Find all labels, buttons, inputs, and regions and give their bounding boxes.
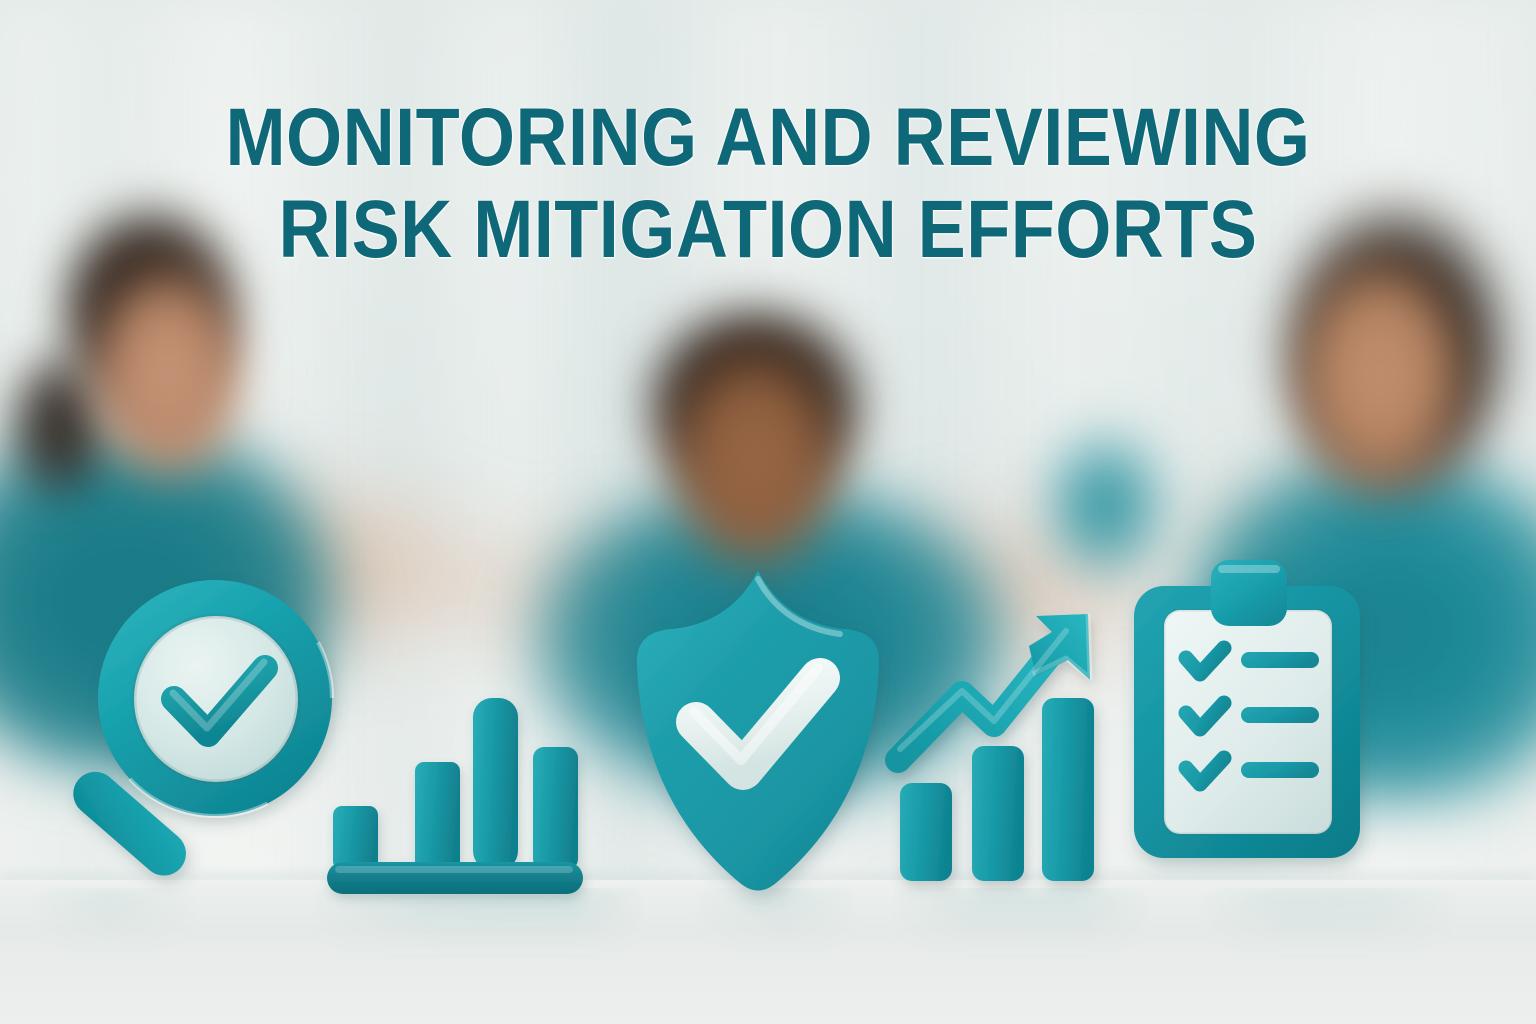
- bar-chart-icon: [325, 690, 605, 905]
- slide-canvas: MONITORING AND REVIEWING RISK MITIGATION…: [0, 0, 1536, 1024]
- clipboard-line-1: [1241, 652, 1319, 668]
- bar-chart-bar-3: [473, 698, 518, 870]
- clipboard-clip-highlight: [1218, 565, 1280, 573]
- page-title-line-1: MONITORING AND REVIEWING: [92, 92, 1444, 184]
- page-title-line-2: RISK MITIGATION EFFORTS: [92, 184, 1444, 276]
- growth-arrow-chart-icon: [890, 598, 1120, 893]
- bar-chart-bar-4: [533, 747, 578, 870]
- growth-bar-3: [1042, 698, 1094, 881]
- clipboard-line-2: [1241, 707, 1319, 723]
- clipboard-line-3: [1241, 762, 1319, 778]
- bar-chart-bar-2: [415, 762, 460, 870]
- clipboard-checklist-icon: [1118, 548, 1383, 888]
- page-title: MONITORING AND REVIEWING RISK MITIGATION…: [0, 92, 1536, 276]
- growth-bar-2: [972, 746, 1024, 881]
- shield-check-icon: [608, 565, 908, 905]
- bar-chart-bar-1: [333, 806, 378, 870]
- bar-chart-base-highlight: [335, 866, 573, 873]
- growth-bar-1: [900, 783, 952, 881]
